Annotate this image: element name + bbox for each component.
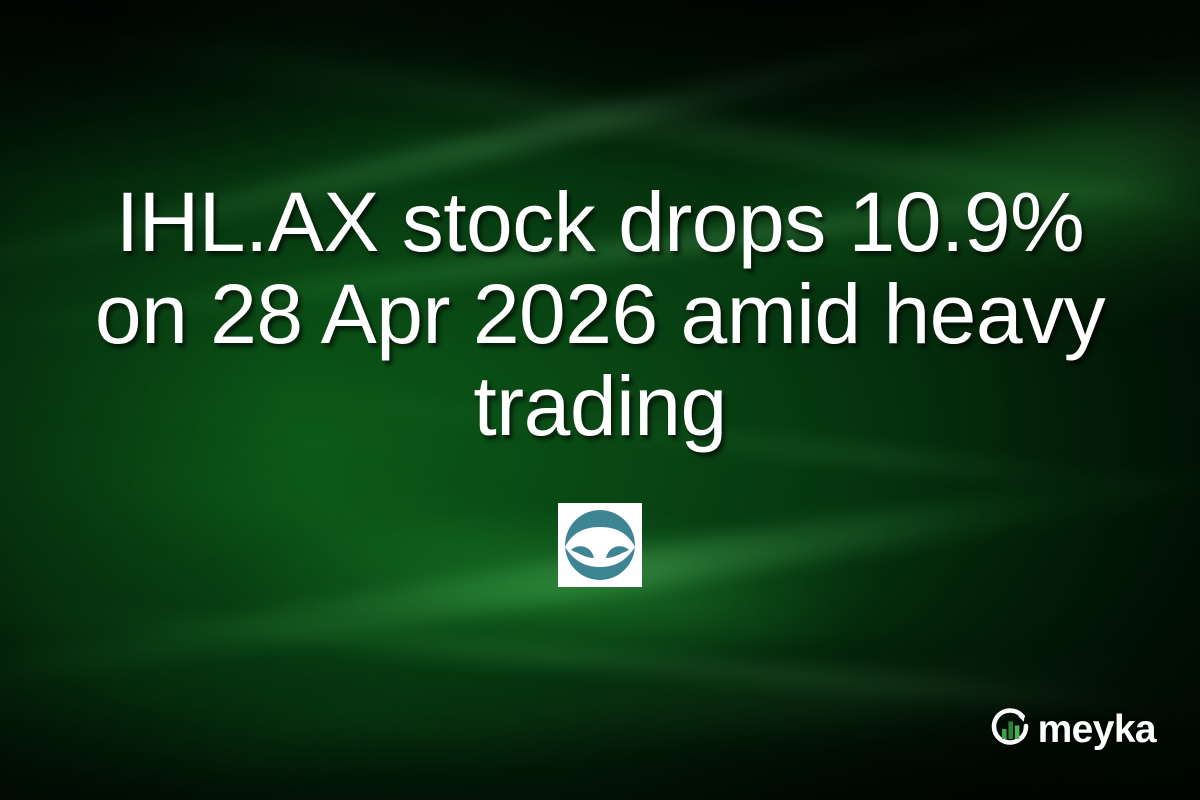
news-card: IHL.AX stock drops 10.9% on 28 Apr 2026 … — [0, 0, 1200, 800]
meyka-watermark: meyka — [988, 706, 1156, 752]
center-brand-tile — [558, 503, 642, 587]
meyka-watermark-text: meyka — [1038, 710, 1156, 749]
meyka-eye-logo-icon — [558, 503, 642, 587]
headline-text: IHL.AX stock drops 10.9% on 28 Apr 2026 … — [70, 176, 1130, 452]
card-content: IHL.AX stock drops 10.9% on 28 Apr 2026 … — [0, 0, 1200, 800]
meyka-chart-ring-logo-icon — [988, 706, 1034, 752]
